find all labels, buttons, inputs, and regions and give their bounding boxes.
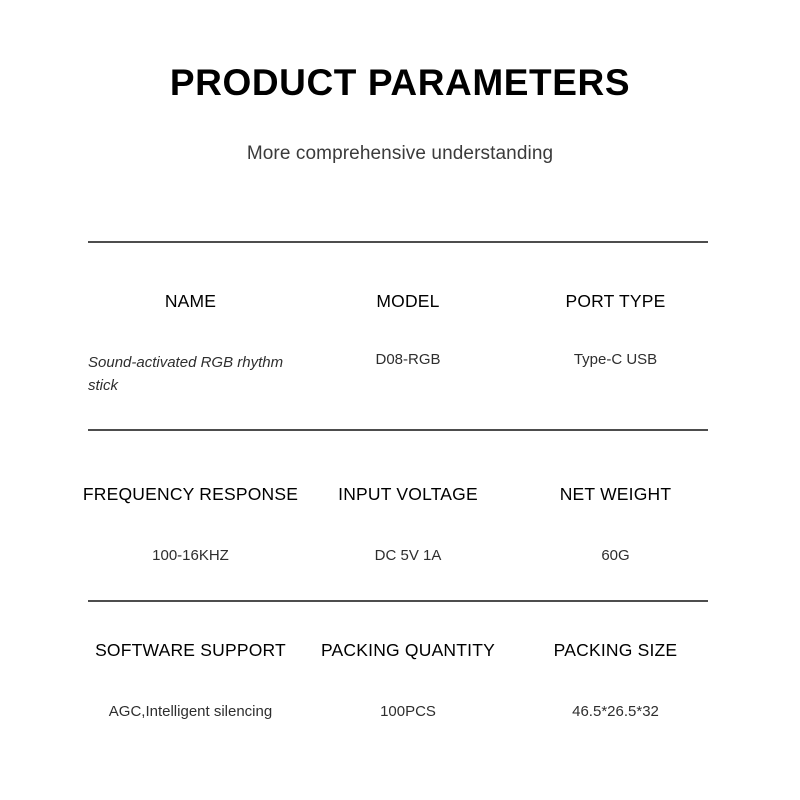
page-title: PRODUCT PARAMETERS bbox=[0, 62, 800, 105]
column-header: PACKING QUANTITY bbox=[321, 602, 495, 661]
product-parameters-page: PRODUCT PARAMETERS More comprehensive un… bbox=[0, 0, 800, 800]
cell-value: 60G bbox=[601, 505, 629, 564]
table-cell-packing-quantity: PACKING QUANTITY 100PCS bbox=[293, 602, 523, 720]
cell-value: 100-16KHZ bbox=[152, 505, 229, 564]
table-row: SOFTWARE SUPPORT AGC,Intelligent silenci… bbox=[88, 602, 708, 720]
table-cell-input-voltage: INPUT VOLTAGE DC 5V 1A bbox=[293, 431, 523, 564]
cell-value: Sound-activated RGB rhythm stick bbox=[88, 312, 293, 398]
cell-value: 100PCS bbox=[380, 661, 436, 720]
table-cell-net-weight: NET WEIGHT 60G bbox=[523, 431, 708, 564]
table-cell-packing-size: PACKING SIZE 46.5*26.5*32 bbox=[523, 602, 708, 720]
column-header: SOFTWARE SUPPORT bbox=[95, 602, 286, 661]
cell-value: 46.5*26.5*32 bbox=[572, 661, 659, 720]
cell-value: Type-C USB bbox=[574, 312, 657, 368]
page-heading: PRODUCT PARAMETERS More comprehensive un… bbox=[0, 62, 800, 165]
table-row: FREQUENCY RESPONSE 100-16KHZ INPUT VOLTA… bbox=[88, 431, 708, 600]
table-cell-model: MODEL D08-RGB bbox=[293, 243, 523, 398]
table-row: NAME Sound-activated RGB rhythm stick MO… bbox=[88, 243, 708, 429]
column-header: FREQUENCY RESPONSE bbox=[83, 431, 298, 505]
parameters-table: NAME Sound-activated RGB rhythm stick MO… bbox=[88, 241, 708, 720]
cell-value: DC 5V 1A bbox=[375, 505, 442, 564]
table-cell-software-support: SOFTWARE SUPPORT AGC,Intelligent silenci… bbox=[88, 602, 293, 720]
table-cell-name: NAME Sound-activated RGB rhythm stick bbox=[88, 243, 293, 398]
column-header: PACKING SIZE bbox=[554, 602, 678, 661]
column-header: NET WEIGHT bbox=[560, 431, 672, 505]
cell-value: D08-RGB bbox=[375, 312, 440, 368]
table-cell-port-type: PORT TYPE Type-C USB bbox=[523, 243, 708, 398]
column-header: PORT TYPE bbox=[565, 243, 665, 312]
column-header: MODEL bbox=[376, 243, 439, 312]
cell-value: AGC,Intelligent silencing bbox=[109, 661, 272, 720]
table-cell-frequency-response: FREQUENCY RESPONSE 100-16KHZ bbox=[88, 431, 293, 564]
column-header: NAME bbox=[165, 243, 216, 312]
page-subtitle: More comprehensive understanding bbox=[0, 105, 800, 165]
column-header: INPUT VOLTAGE bbox=[338, 431, 478, 505]
